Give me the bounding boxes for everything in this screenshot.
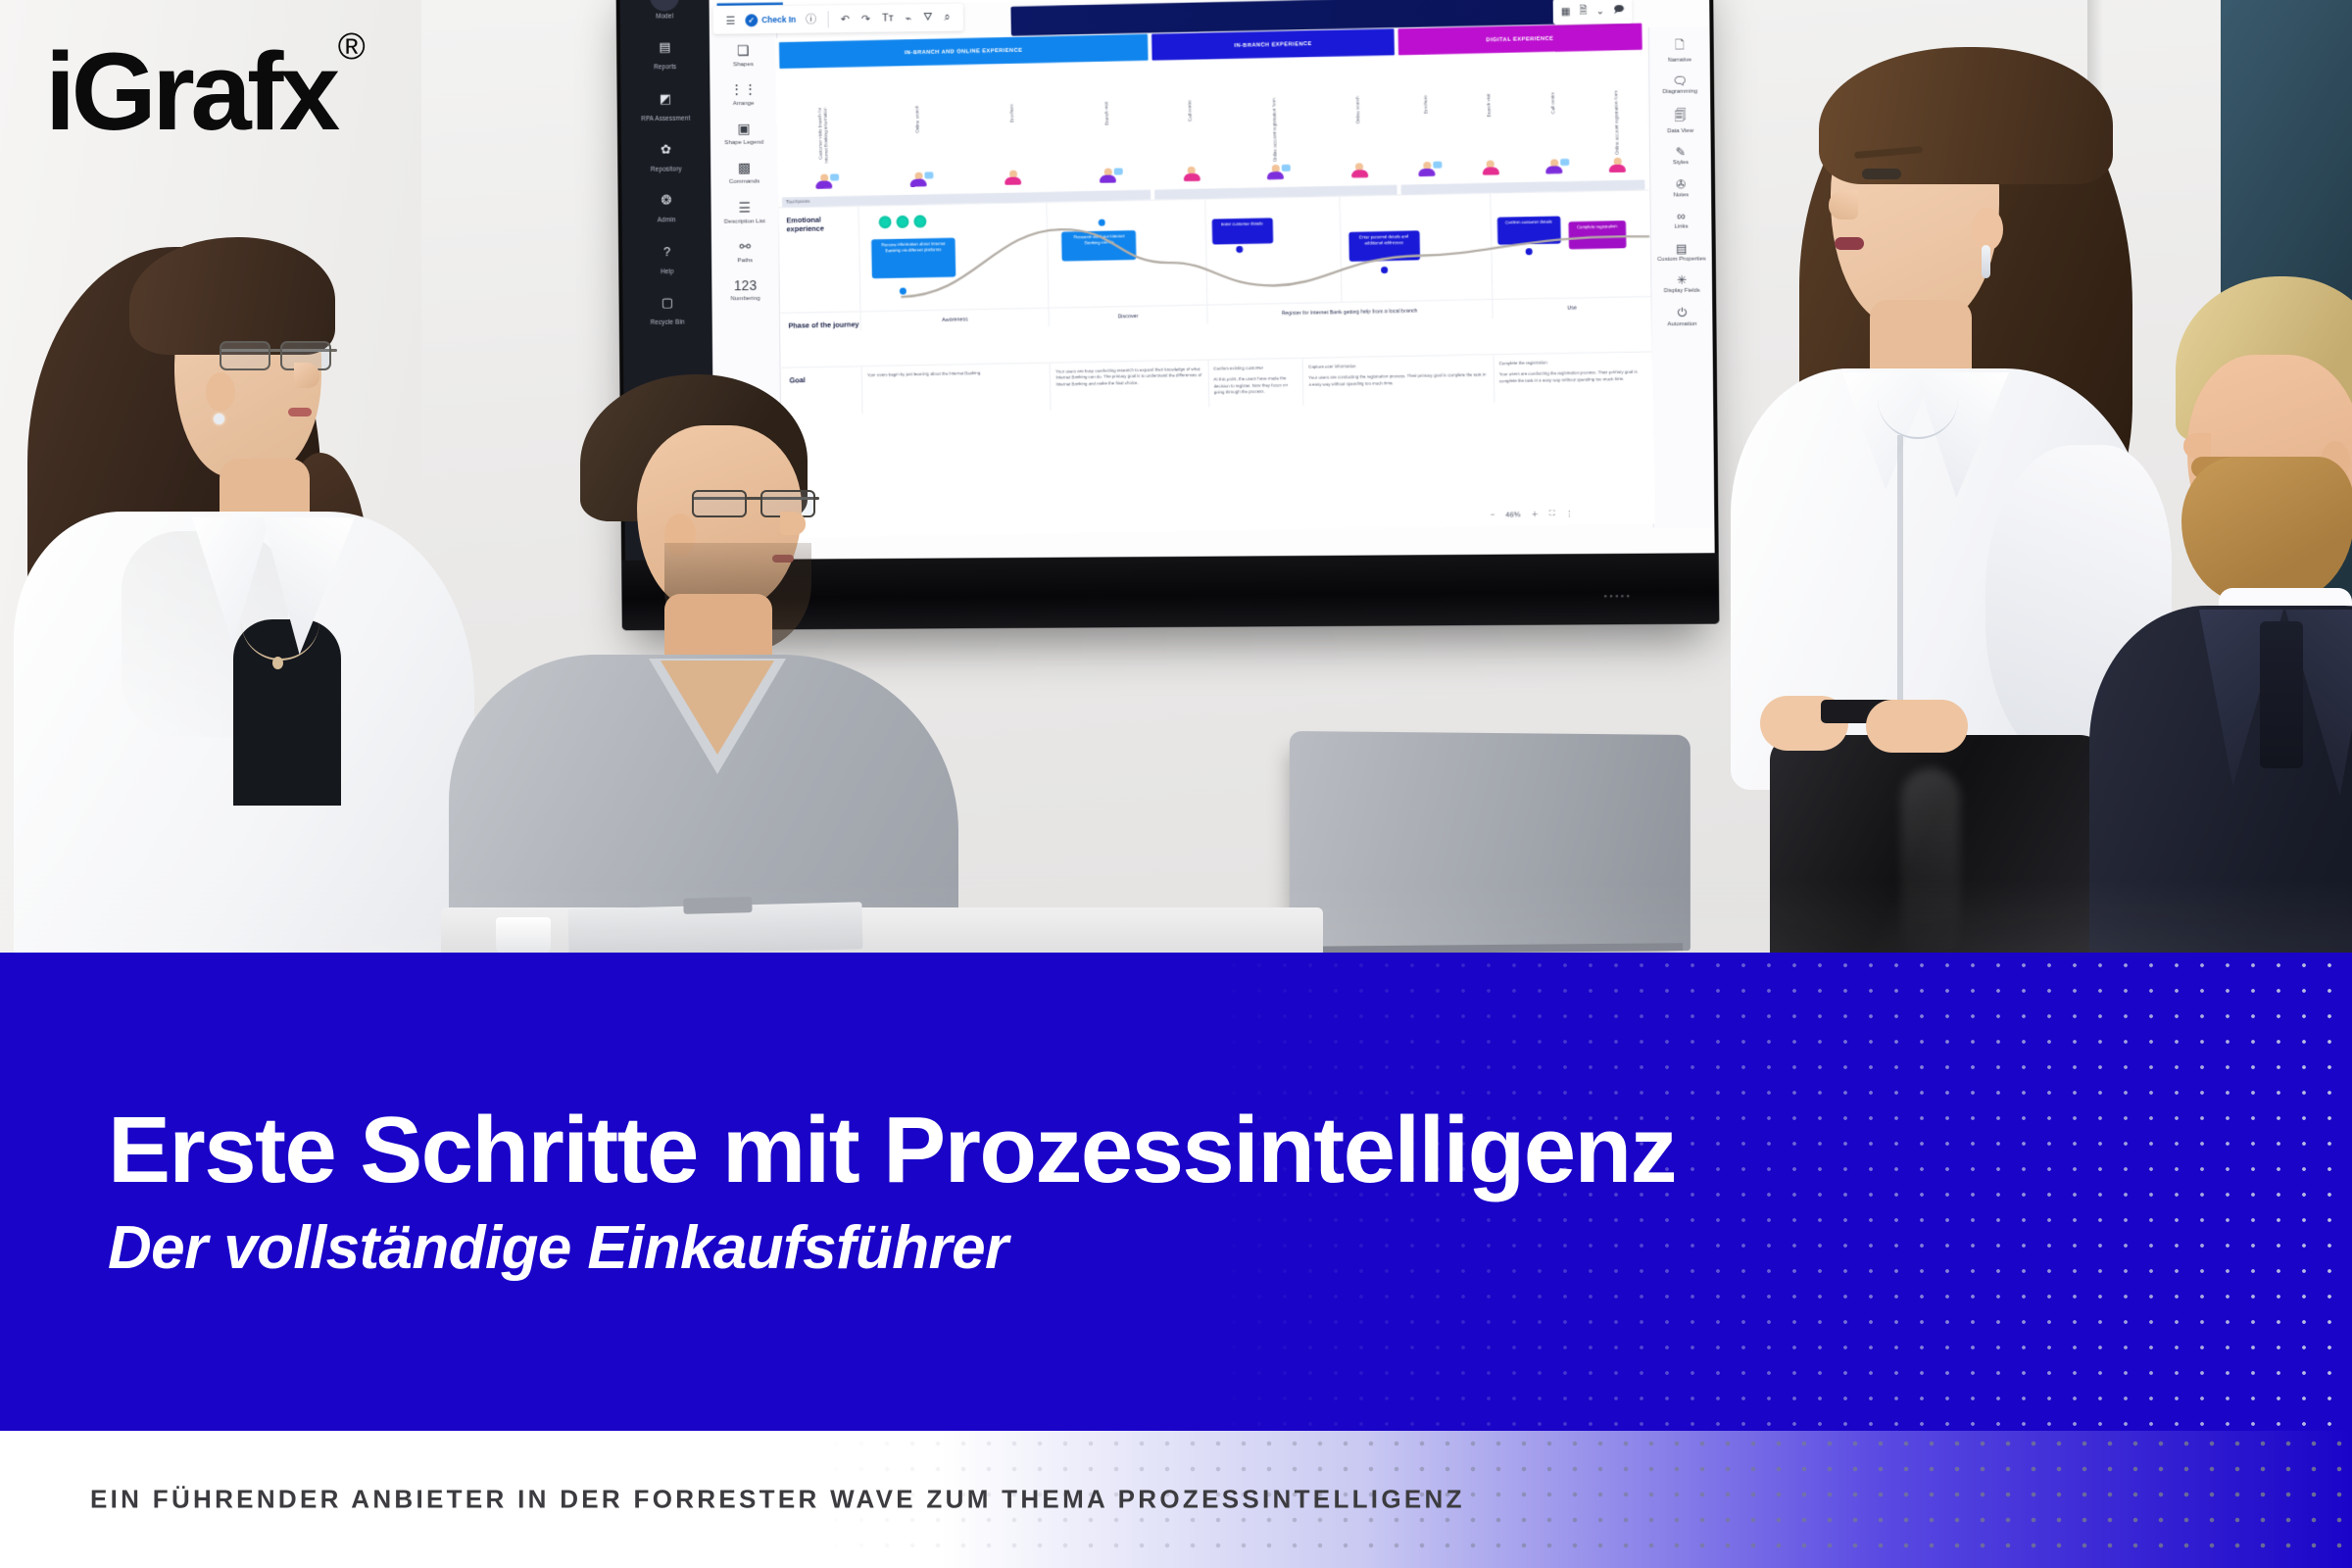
question-circle-icon: ? [653, 237, 682, 267]
igrafx-logo: iGrafx® [45, 37, 364, 147]
person-bearded-man-suit [2136, 276, 2352, 953]
touchpoint-label: Customer visits branch for Internet Bank… [817, 108, 830, 172]
emotion-chip[interactable]: Confirm customer details [1497, 216, 1561, 244]
phase-cell[interactable]: Discover [1049, 306, 1206, 327]
grid-icon[interactable]: ▦ [1561, 6, 1571, 17]
registered-trademark-icon: ® [338, 26, 366, 68]
subcolumn-label: Complete the registration [1498, 358, 1647, 367]
commands-icon: ▩ [713, 160, 776, 177]
check-in-button[interactable]: ✓ Check In [741, 13, 800, 26]
goal-text: Your users are conducting the registrati… [1499, 369, 1648, 385]
footer-tagline: EIN FÜHRENDER ANBIETER IN DER FORRESTER … [90, 1485, 1465, 1515]
touchpoint-group-c: Brochure Branch visit Call centre [1398, 50, 1645, 185]
share-nodes-icon: ⚯ [650, 0, 679, 12]
touchpoint[interactable]: Online account registration form [1606, 90, 1628, 172]
touchpoint-label: Online search [914, 106, 921, 171]
avatar [1183, 167, 1200, 181]
zoom-controls: − 46% ＋ ⛶ ⋮ [1482, 501, 1583, 526]
tool-label: Description List [713, 218, 775, 225]
person-seated-man-glasses [500, 374, 921, 953]
touchpoint[interactable]: Customer visits branch for Internet Bank… [812, 108, 833, 189]
panel-label: Diagramming [1651, 89, 1709, 96]
panel-label: Custom Properties [1653, 256, 1711, 263]
subcolumn-label: Capture user information [1308, 361, 1488, 370]
happy-face-icon [896, 216, 908, 228]
chevron-down-icon[interactable]: ⌄ [1596, 6, 1605, 17]
canvas-header-actions: ▦ 🗎 ⌄ 🗩 [1553, 0, 1633, 24]
row-emotional-experience: Emotional experience Receive informa [778, 189, 1651, 313]
goal-cell[interactable]: Complete the registration Your users are… [1493, 352, 1652, 402]
panel-custom-properties[interactable]: ▤ Custom Properties [1652, 241, 1710, 263]
goal-cell[interactable]: Capture user information Your users are … [1302, 355, 1494, 405]
panel-label: Display Fields [1653, 288, 1711, 295]
avatar [1267, 165, 1284, 179]
touchpoint-label: Call centre [1549, 92, 1556, 157]
sidebar-item-help[interactable]: ? Help [633, 237, 702, 276]
subcolumn-label: Confirm existing customer [1213, 365, 1298, 372]
filter-icon[interactable]: ⛛ [917, 11, 938, 24]
tool-label: Commands [713, 178, 775, 186]
tab-details[interactable]: Details [783, 0, 842, 5]
panel-data-view[interactable]: 🗐 Data View [1651, 107, 1709, 135]
panel-label: Data View [1651, 128, 1709, 135]
description-list-icon: ☰ [713, 199, 776, 217]
diagramming-icon: 🗨 [1651, 74, 1709, 89]
curve-node [1381, 267, 1388, 273]
panel-automation[interactable]: ⏻ Automation [1653, 306, 1711, 328]
emotion-chip[interactable]: Research what our Internet Banking can d… [1061, 230, 1136, 261]
menu-icon[interactable]: ☰ [720, 14, 742, 26]
touchpoint[interactable]: Call centre [1180, 100, 1201, 181]
zoom-in-button[interactable]: ＋ [1531, 509, 1539, 519]
touchpoint[interactable]: Online search [907, 106, 928, 187]
touchpoint-label: Brochure [1009, 104, 1016, 169]
emo-cell: Confirm customer details Complete regist… [1490, 190, 1651, 299]
emotion-chip[interactable]: Complete registration [1568, 220, 1626, 249]
sidebar-item-repository[interactable]: ✿ Repository [632, 134, 701, 173]
panel-label: Links [1652, 224, 1710, 231]
narrative-icon: 🗋 [1650, 35, 1708, 57]
panel-narrative[interactable]: 🗋 Narrative [1650, 35, 1708, 64]
row-label: Touchpoints [786, 198, 809, 203]
trash-icon: ▢ [653, 288, 682, 318]
panel-label: Notes [1652, 192, 1710, 199]
avatar [1004, 170, 1021, 184]
panel-display-fields[interactable]: ✳ Display Fields [1653, 273, 1711, 295]
display-fields-icon: ✳ [1653, 273, 1711, 288]
legend-icon: ▣ [712, 121, 775, 138]
panel-label: Styles [1652, 160, 1710, 167]
phase-cell[interactable]: Awareness [860, 309, 1050, 331]
zoom-out-button[interactable]: − [1491, 510, 1495, 518]
links-icon: ∞ [1652, 210, 1710, 224]
touchpoint-label: Brochure [1423, 95, 1430, 160]
emotion-chip[interactable]: Receive information about Internet Banki… [871, 238, 955, 279]
shapes-icon: ❏ [711, 42, 774, 60]
touchpoint-label: Call centre [1188, 100, 1195, 165]
avatar [1482, 160, 1498, 174]
avatar [1609, 158, 1626, 172]
sidebar-item-label: Recycle Bin [634, 319, 702, 327]
app-toolbar: ☰ ✓ Check In ⓘ ↶ ↷ Tᴛ ⌁ ⛛ ⌕ [713, 4, 963, 34]
automation-icon: ⏻ [1653, 306, 1711, 321]
goal-text: Your users are busy conducting research … [1055, 367, 1202, 388]
title-band: Erste Schritte mit Prozessintelligenz De… [0, 953, 2352, 1431]
touchpoint[interactable]: Online account registration form [1264, 98, 1286, 180]
row-label-phase: Phase of the journey [780, 312, 860, 367]
person-seated-woman-glasses [27, 208, 439, 953]
arrange-icon: ⋮⋮ [712, 81, 775, 99]
tool-numbering[interactable]: 123 Numbering [714, 277, 777, 303]
redo-icon[interactable]: ↷ [856, 12, 876, 24]
avatar [1419, 162, 1436, 176]
panel-links[interactable]: ∞ Links [1652, 210, 1710, 231]
sidebar-item-label: Admin [633, 217, 701, 224]
paths-icon: ⚯ [713, 238, 776, 256]
goal-cell[interactable]: Your users are busy conducting research … [1050, 361, 1208, 410]
curve-node [1525, 248, 1532, 255]
emo-cell: Enter personal details and additional ad… [1339, 194, 1492, 302]
tool-arrange[interactable]: ⋮⋮ Arrange [712, 81, 775, 108]
page-subtitle: Der vollständige Einkaufsführer [108, 1214, 1676, 1282]
monitor-brand-mark: ▪▪▪▪▪ [1603, 591, 1632, 601]
numbering-icon: 123 [714, 277, 777, 294]
emo-cell: Enter customer details [1204, 197, 1341, 305]
toolbar-divider [828, 11, 829, 27]
tab-manage-cycles[interactable]: Manage Cycles [1013, 0, 1104, 2]
row-label-emotional-experience: Emotional experience [778, 207, 859, 313]
undo-icon[interactable]: ↶ [835, 13, 856, 25]
touchpoint[interactable]: Online search [1348, 96, 1370, 178]
database-icon: ✿ [652, 135, 681, 165]
tool-label: Numbering [714, 295, 776, 303]
avatar [910, 171, 927, 186]
sidebar-item-label: Repository [632, 166, 700, 173]
connector-icon[interactable]: ⌁ [900, 12, 918, 24]
curve-node [900, 288, 906, 295]
sidebar-item-reports[interactable]: ▤ Reports [631, 32, 700, 72]
sidebar-item-admin[interactable]: ❂ Admin [632, 186, 701, 225]
happy-face-icon [913, 215, 926, 227]
curve-node [1236, 246, 1243, 253]
panel-label: Automation [1653, 321, 1711, 328]
tool-shapes[interactable]: ❏ Shapes [711, 42, 774, 69]
tool-paths[interactable]: ⚯ Paths [713, 238, 776, 265]
search-icon[interactable]: ⌕ [938, 11, 955, 24]
sidebar-item-label: Help [633, 269, 701, 276]
touchpoint-label: Branch visit [1487, 93, 1494, 158]
notes-icon: ✇ [1652, 177, 1710, 192]
emotion-chip[interactable]: Enter personal details and additional ad… [1348, 230, 1420, 261]
tab-diagram[interactable]: Diagram [716, 0, 783, 6]
custom-properties-icon: ▤ [1652, 241, 1710, 256]
page-root: Diagram Details Relationships Item Prope… [0, 0, 2352, 1568]
touchpoint[interactable]: Brochure [1002, 104, 1023, 185]
report-icon: ▤ [651, 33, 680, 63]
robot-icon: ◩ [651, 84, 680, 114]
touchpoint[interactable]: Branch visit [1097, 101, 1118, 182]
phase-cell[interactable]: Use [1492, 297, 1651, 318]
logo-wordmark: iGrafx [45, 30, 336, 153]
check-icon: ✓ [745, 14, 758, 26]
avatar [1350, 163, 1367, 177]
tool-description-list[interactable]: ☰ Description List [713, 199, 776, 225]
tool-label: Shape Legend [712, 139, 774, 147]
tool-label: Arrange [712, 100, 774, 108]
more-options-icon[interactable]: ⋮ [1566, 509, 1574, 517]
panel-diagramming[interactable]: 🗨 Diagramming [1651, 74, 1709, 96]
check-in-label: Check In [761, 15, 796, 24]
avatar [815, 173, 832, 188]
glasses-icon [220, 341, 337, 374]
tool-label: Paths [714, 257, 776, 265]
goal-body: Your users begin by just learning about … [861, 352, 1654, 460]
avatar [1545, 159, 1562, 173]
touchpoints-row: Customer visits branch for Internet Bank… [775, 50, 1648, 198]
sidebar-item-recycle-bin[interactable]: ▢ Recycle Bin [633, 288, 702, 327]
hero-fade [0, 874, 2352, 953]
tool-shape-legend[interactable]: ▣ Shape Legend [712, 121, 775, 147]
tab-item-properties[interactable]: Item Properties [924, 0, 1014, 3]
touchpoint[interactable]: Brochure [1416, 95, 1438, 177]
tab-history[interactable]: History [1103, 0, 1163, 1]
emotion-chip[interactable]: Enter customer details [1211, 218, 1273, 244]
goal-text: At this point, the users have made the d… [1213, 375, 1298, 396]
info-icon[interactable]: ⓘ [800, 11, 822, 26]
avatar [1100, 168, 1116, 182]
data-view-icon: 🗐 [1651, 107, 1709, 128]
touchpoint-label: Online account registration form [1613, 91, 1620, 156]
touchpoint[interactable]: Branch visit [1479, 93, 1500, 175]
touchpoint[interactable]: Call centre [1543, 92, 1564, 174]
sidebar-item-label: RPA Assessment [632, 115, 700, 122]
emo-cell: Research what our Internet Banking can d… [1047, 200, 1206, 308]
page-icon[interactable]: 🗎 [1579, 3, 1587, 20]
touchpoint-group-b: Call centre Online account registration … [1152, 55, 1396, 189]
sentiment-faces [879, 215, 927, 228]
footer-band: EIN FÜHRENDER ANBIETER IN DER FORRESTER … [0, 1431, 2352, 1568]
goal-text: Your users are conducting the registrati… [1308, 372, 1489, 388]
happy-face-icon [879, 216, 892, 228]
emo-cell: Receive information about Internet Banki… [858, 203, 1049, 312]
sidebar-item-label: Model [631, 13, 699, 21]
goal-cell[interactable]: Confirm existing customer At this point,… [1207, 359, 1303, 407]
sidebar-item-model[interactable]: ⚯ Model [630, 0, 699, 21]
sidebar-item-label: Reports [631, 64, 699, 72]
fit-to-screen-button[interactable]: ⛶ [1549, 509, 1554, 518]
curve-node [1099, 220, 1105, 226]
touchpoint-label: Online search [1355, 96, 1362, 161]
panel-notes[interactable]: ✇ Notes [1652, 177, 1710, 199]
comment-icon[interactable]: 🗩 [1613, 2, 1624, 19]
panel-styles[interactable]: ✎ Styles [1652, 145, 1710, 167]
zoom-level: 46% [1505, 510, 1520, 518]
sidebar-item-rpa-assessment[interactable]: ◩ RPA Assessment [631, 83, 700, 122]
panel-label: Narrative [1651, 57, 1709, 64]
tool-commands[interactable]: ▩ Commands [713, 160, 776, 186]
touchpoint-label: Online account registration form [1271, 98, 1278, 163]
format-text-icon[interactable]: Tᴛ [876, 12, 900, 24]
styles-pen-icon: ✎ [1652, 145, 1710, 160]
gear-user-icon: ❂ [652, 186, 681, 216]
tool-label: Shapes [712, 61, 774, 69]
touchpoint-label: Branch visit [1103, 102, 1110, 167]
touchpoint-group-a: Customer visits branch for Internet Bank… [779, 61, 1151, 198]
emotional-experience-body: Receive information about Internet Banki… [858, 190, 1651, 311]
page-title: Erste Schritte mit Prozessintelligenz [108, 1101, 1676, 1200]
